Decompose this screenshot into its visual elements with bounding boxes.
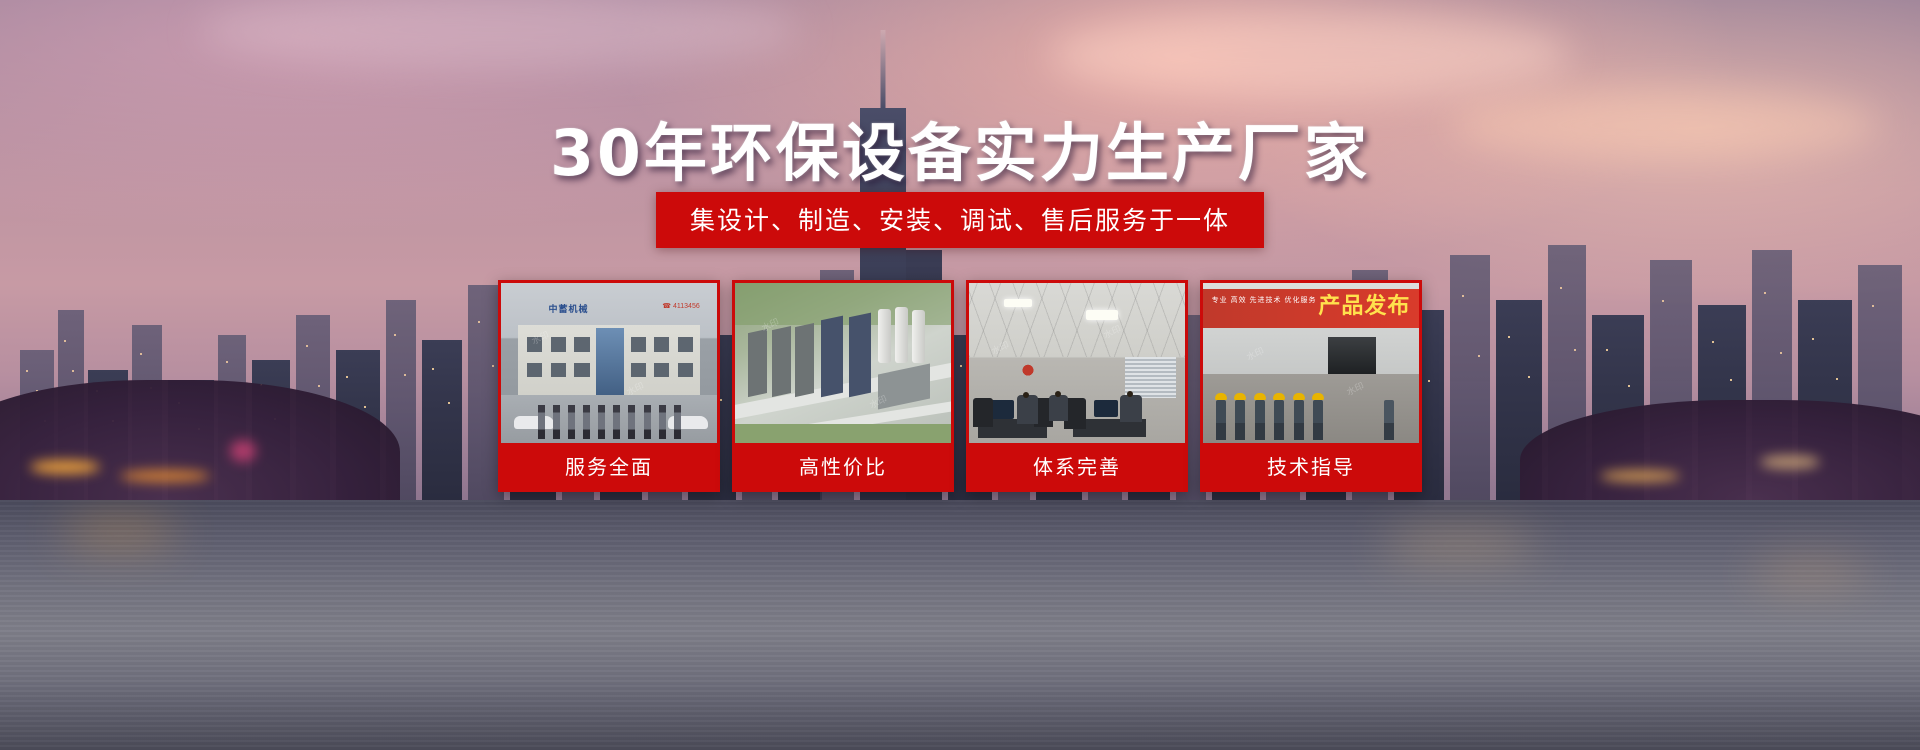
workshop-banner-subtext: 专业 高效 先进技术 优化服务 [1212, 297, 1317, 305]
hero-banner: 30年环保设备实力生产厂家 集设计、制造、安装、调试、售后服务于一体 中蓄机械 … [0, 0, 1920, 750]
feature-card-caption: 服务全面 [501, 443, 717, 489]
feature-card-caption: 体系完善 [969, 443, 1185, 489]
shore-light [30, 460, 100, 474]
building-sign-label: 中蓄机械 [549, 302, 589, 315]
water-reflection [1750, 560, 1870, 586]
building-entrance [596, 328, 624, 402]
feature-card[interactable]: 水印 水印 体系完善 [966, 280, 1188, 492]
shore-light [230, 440, 256, 462]
feature-card[interactable]: 中蓄机械 ☎ 4113456 [498, 280, 720, 492]
building-phone-label: ☎ 4113456 [662, 302, 699, 310]
subtitle-banner: 集设计、制造、安装、调试、售后服务于一体 [656, 192, 1264, 248]
shore-light [120, 470, 210, 482]
parked-car [514, 416, 554, 429]
shore-light [1760, 455, 1820, 469]
workshop-banner-headline: 产品发布 [1318, 288, 1410, 320]
page-title: 30年环保设备实力生产厂家 [0, 103, 1920, 194]
feature-card-caption: 高性价比 [735, 443, 951, 489]
office-workspace-photo: 水印 水印 [969, 283, 1185, 443]
workshop-door [1328, 337, 1376, 374]
feature-card[interactable]: 产品发布 专业 高效 先进技术 优化服务 水印 水印 技术指导 [1200, 280, 1422, 492]
feature-card-caption: 技术指导 [1203, 443, 1419, 489]
feature-card[interactable]: 水印 水印 高性价比 [732, 280, 954, 492]
water-reflection [60, 520, 180, 546]
feature-card-list: 中蓄机械 ☎ 4113456 [498, 280, 1422, 492]
river-water [0, 500, 1920, 750]
aerial-production-plant-photo: 水印 水印 [735, 283, 951, 443]
water-reflection [1380, 530, 1540, 560]
wall-logo-icon [1017, 363, 1039, 381]
ceiling-grid [969, 283, 1185, 357]
shore-light [1600, 470, 1680, 482]
workshop-team-photo: 产品发布 专业 高效 先进技术 优化服务 水印 水印 [1203, 283, 1419, 443]
company-office-building-photo: 中蓄机械 ☎ 4113456 [501, 283, 717, 443]
